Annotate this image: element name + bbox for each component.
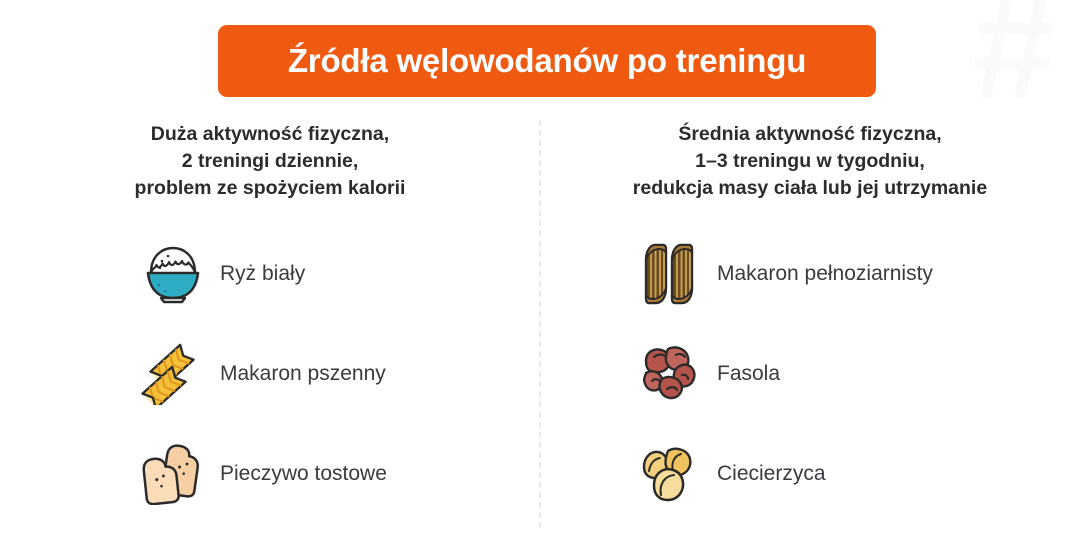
list-item: Makaron pszenny — [138, 324, 540, 424]
list-item-label: Makaron pełnoziarnisty — [717, 262, 933, 286]
columns-container: Duża aktywność fizyczna, 2 treningi dzie… — [0, 118, 1080, 538]
wheat-pasta-icon — [138, 340, 208, 408]
list-item-label: Fasola — [717, 362, 780, 386]
food-list-high-activity: Ryż biały — [0, 224, 540, 524]
column-medium-activity: Średnia aktywność fizyczna, 1–3 treningu… — [540, 118, 1080, 538]
list-item-label: Makaron pszenny — [220, 362, 386, 386]
header-line: Duża aktywność fizyczna, — [0, 121, 540, 148]
list-item-label: Ciecierzyca — [717, 462, 826, 486]
header-line: 1–3 treningu w tygodniu, — [540, 148, 1080, 175]
food-list-medium-activity: Makaron pełnoziarnisty — [540, 224, 1080, 524]
header-line: 2 treningi dziennie, — [0, 148, 540, 175]
title-banner: Źródła węlowodanów po treningu — [218, 25, 876, 97]
list-item: Fasola — [635, 324, 1080, 424]
column-high-activity: Duża aktywność fizyczna, 2 treningi dzie… — [0, 118, 540, 538]
header-line: Średnia aktywność fizyczna, — [540, 121, 1080, 148]
column-header-high-activity: Duża aktywność fizyczna, 2 treningi dzie… — [0, 118, 540, 202]
watermark-icon: # — [954, 0, 1074, 104]
header-line: problem ze spożyciem kalorii — [0, 175, 540, 202]
column-header-medium-activity: Średnia aktywność fizyczna, 1–3 treningu… — [540, 118, 1080, 202]
list-item: Ciecierzyca — [635, 424, 1080, 524]
chickpeas-icon — [635, 440, 705, 508]
page-title: Źródła węlowodanów po treningu — [288, 42, 806, 80]
beans-icon — [635, 340, 705, 408]
list-item: Ryż biały — [138, 224, 540, 324]
toast-bread-icon — [138, 440, 208, 508]
rice-bowl-icon — [138, 240, 208, 308]
list-item-label: Ryż biały — [220, 262, 305, 286]
wholegrain-pasta-icon — [635, 240, 705, 308]
header-line: redukcja masy ciała lub jej utrzymanie — [540, 175, 1080, 202]
infographic-root: # Źródła węlowodanów po treningu Duża ak… — [0, 0, 1080, 548]
list-item-label: Pieczywo tostowe — [220, 462, 387, 486]
list-item: Pieczywo tostowe — [138, 424, 540, 524]
list-item: Makaron pełnoziarnisty — [635, 224, 1080, 324]
